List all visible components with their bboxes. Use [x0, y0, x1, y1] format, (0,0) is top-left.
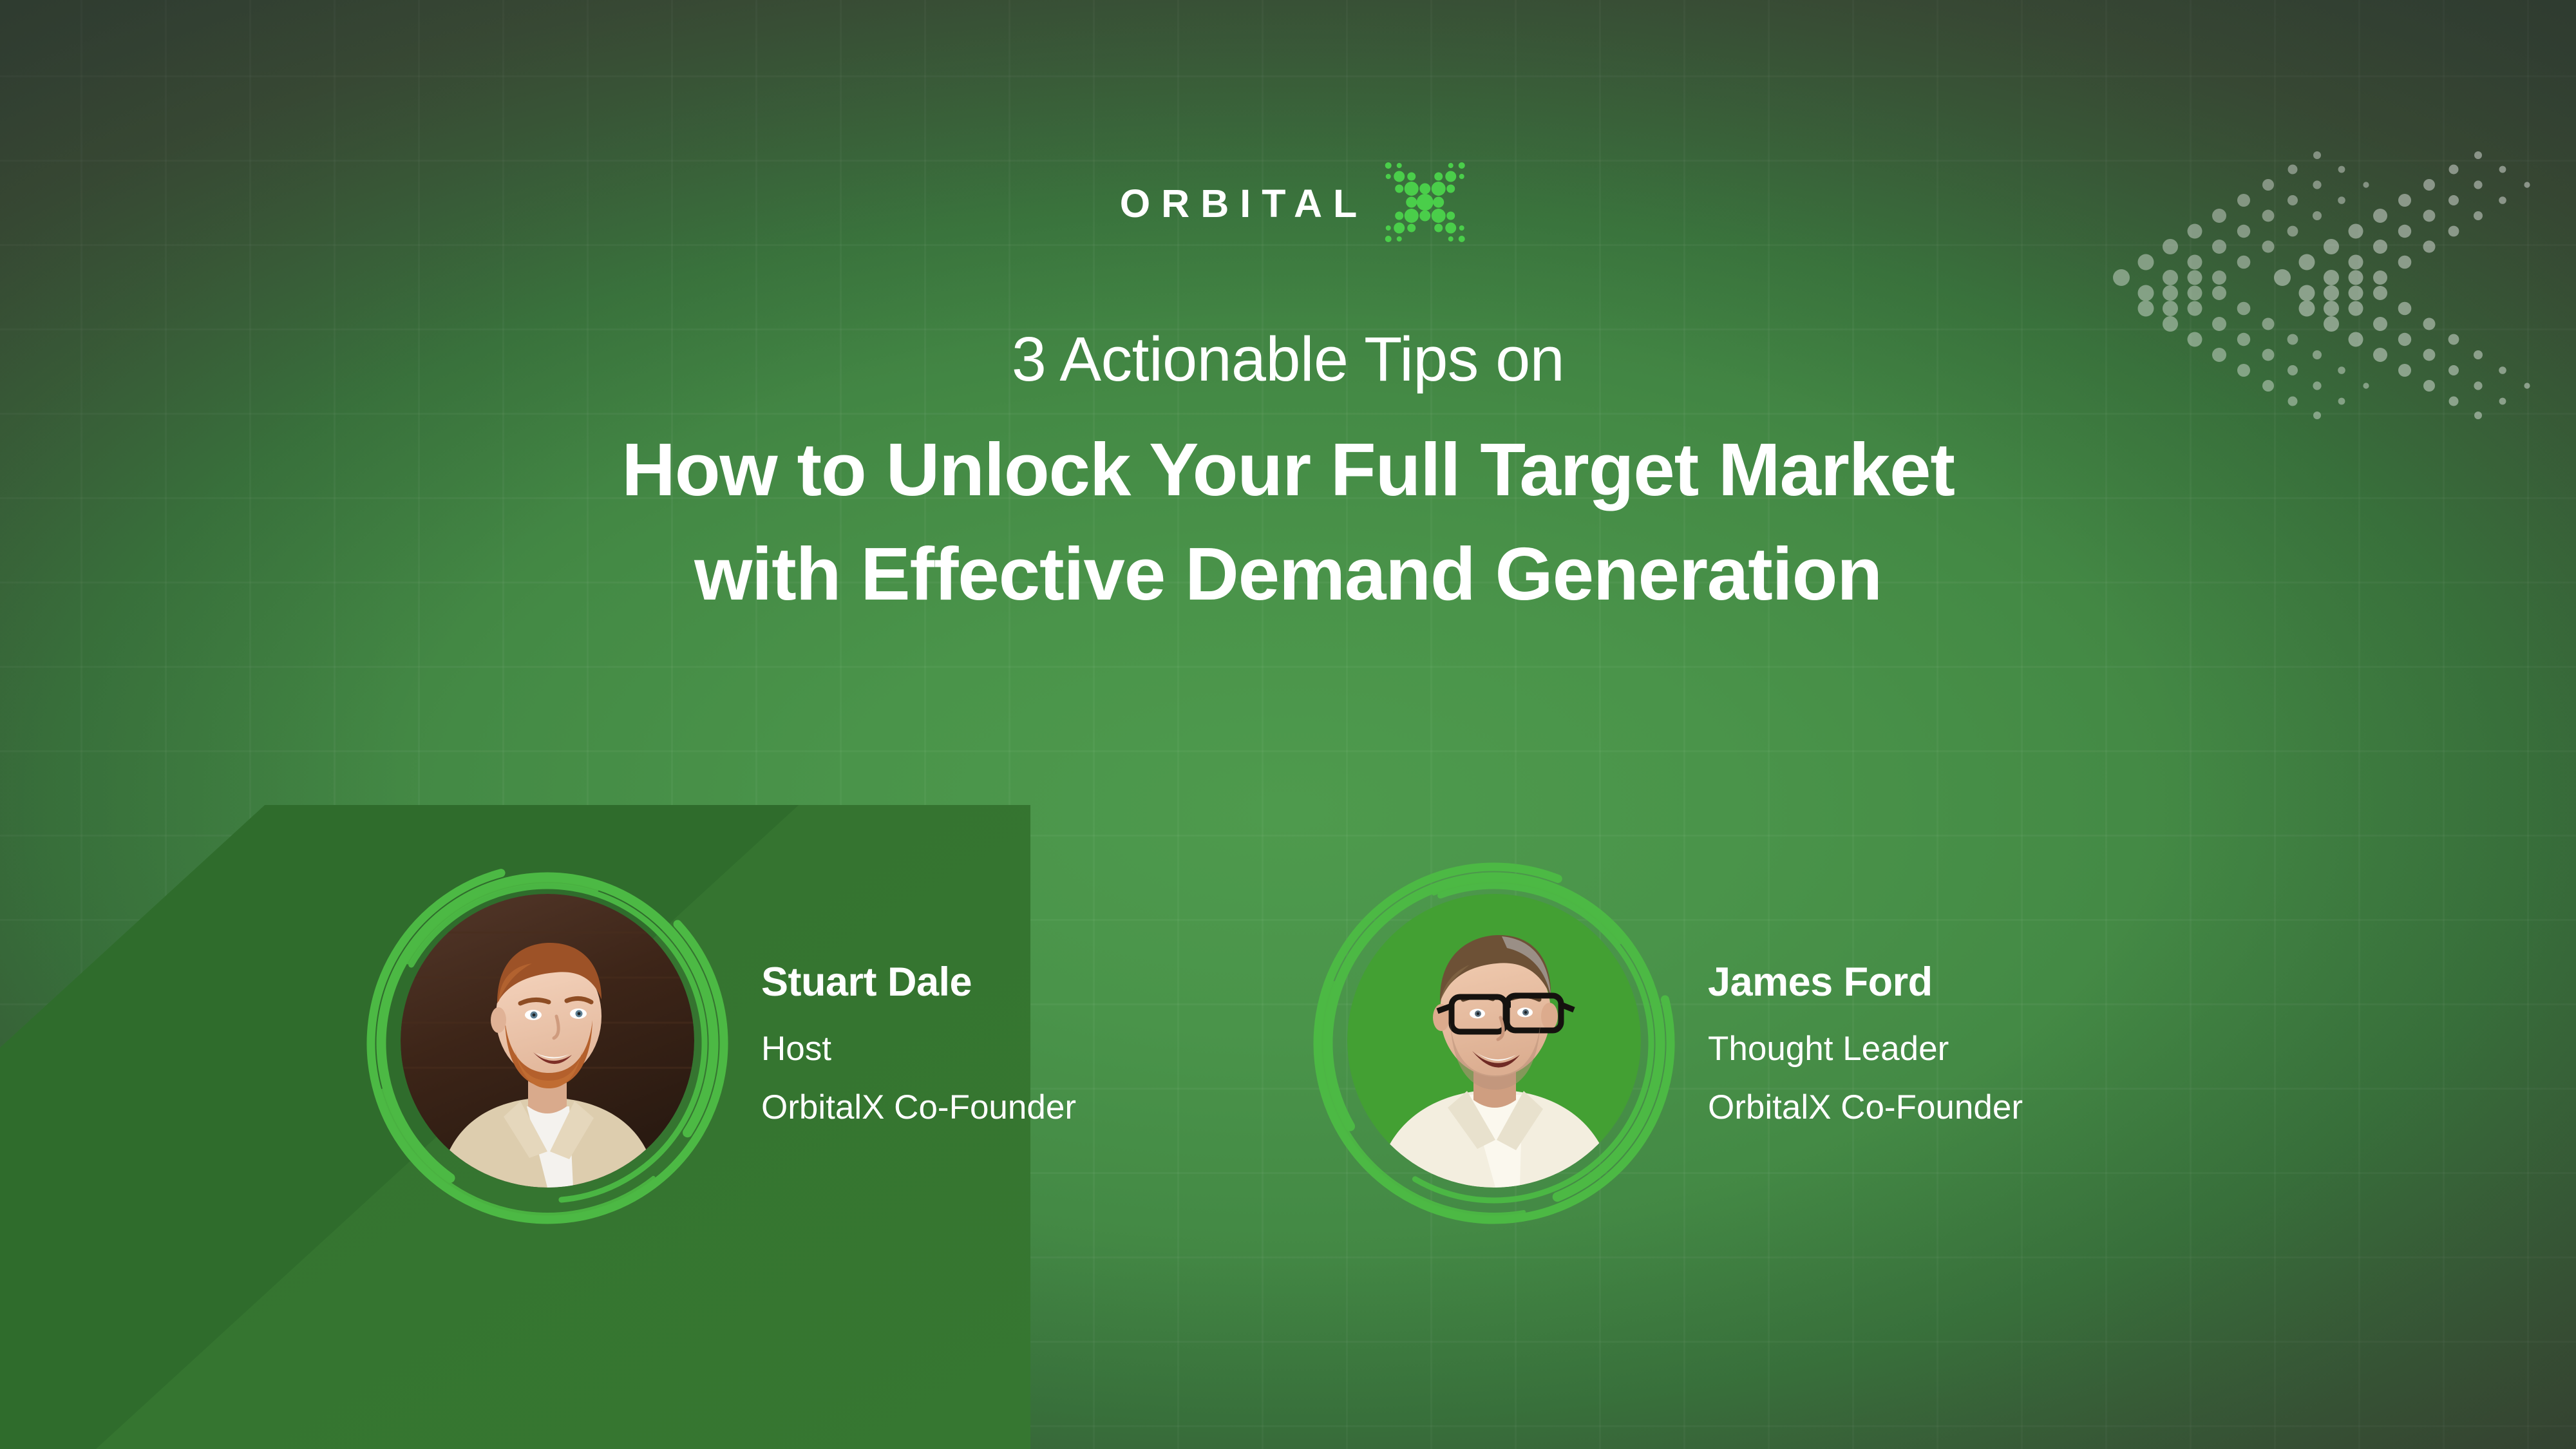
avatar-ring-icon	[1307, 857, 1681, 1230]
speaker-org: OrbitalX Co-Founder	[1708, 1089, 2023, 1126]
speaker-list: Stuart Dale Host OrbitalX Co-Founder	[361, 857, 2576, 1230]
eyebrow-text: 3 Actionable Tips on	[0, 325, 2576, 394]
avatar-james-ford	[1307, 857, 1681, 1230]
speaker-role: Host	[761, 1030, 1076, 1068]
brand-logo: ORBITAL	[1109, 162, 1468, 245]
speaker-info: James Ford Thought Leader OrbitalX Co-Fo…	[1708, 960, 2023, 1127]
speaker-name: Stuart Dale	[761, 960, 1076, 1005]
speaker-name: James Ford	[1708, 960, 2023, 1005]
avatar-ring-icon	[361, 857, 734, 1230]
avatar-stuart-dale	[361, 857, 734, 1230]
title-line-2: with Effective Demand Generation	[0, 526, 2576, 623]
speaker-info: Stuart Dale Host OrbitalX Co-Founder	[761, 960, 1076, 1127]
webinar-title-card: ORBITAL	[0, 0, 2576, 1449]
speaker-card: Stuart Dale Host OrbitalX Co-Founder	[361, 857, 1307, 1230]
headline-block: 3 Actionable Tips on How to Unlock Your …	[0, 325, 2576, 623]
speaker-org: OrbitalX Co-Founder	[761, 1089, 1076, 1126]
speaker-role: Thought Leader	[1708, 1030, 2023, 1068]
logo-wordmark: ORBITAL	[1109, 184, 1368, 223]
title-line-1: How to Unlock Your Full Target Market	[0, 421, 2576, 518]
speaker-card: James Ford Thought Leader OrbitalX Co-Fo…	[1307, 857, 2023, 1230]
orbital-x-dot-mark-icon	[1382, 160, 1467, 245]
